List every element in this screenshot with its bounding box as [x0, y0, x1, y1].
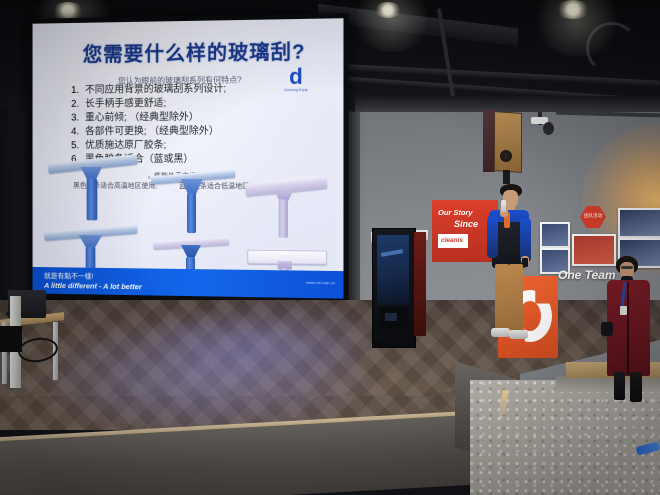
- bullet-text: 各部件可更换; （经典型除外）: [85, 125, 219, 139]
- bullet-text: 不同应用背景的玻璃刮系列设计;: [85, 83, 226, 98]
- slide-brand-logo: d Cleaning Equip: [284, 66, 308, 93]
- wall-mounted-speaker: [494, 111, 522, 173]
- floor-equipment-case: [0, 326, 22, 352]
- bullet-text: 优质施达原厂胶条;: [85, 139, 166, 153]
- team-activity-badge: 团队活动: [580, 206, 606, 228]
- speaker-driver: [500, 150, 512, 162]
- rack-device: [385, 313, 397, 321]
- presenter-shoe-right: [509, 330, 528, 339]
- wall-top-trim: [355, 96, 660, 112]
- bullet-number: 2.: [71, 98, 79, 112]
- product-squeegee-3: [245, 179, 327, 238]
- projector-light-wash-2: [150, 300, 390, 380]
- projection-screen: 您需要什么样的玻璃刮? 您认为眼前的玻璃刮系列有何特点? 1. 不同应用背景的玻…: [33, 18, 344, 298]
- photo-wall: 团队活动 One Team: [540, 196, 660, 288]
- rack-caster-right: [405, 341, 411, 347]
- footer-url: www.cd-corp.cn: [306, 280, 335, 286]
- slide-bullet-3: 3. 重心前倾; （经典型除外）: [71, 110, 321, 125]
- product-squeegee-2: [151, 173, 235, 233]
- list-item: [572, 234, 616, 266]
- auditorium-presentation-scene: 您需要什么样的玻璃刮? 您认为眼前的玻璃刮系列有何特点? 1. 不同应用背景的玻…: [0, 0, 660, 495]
- bullet-number: 1.: [71, 84, 79, 98]
- ceiling-spotlight-3: [374, 2, 402, 18]
- presenter-shoe-left: [491, 328, 510, 337]
- list-item: [618, 208, 660, 238]
- photo-group-red: [574, 236, 614, 264]
- brand-caption: Cleaning Equip: [284, 88, 308, 92]
- slide-bullet-2: 2. 长手柄手感更舒适;: [71, 96, 321, 112]
- list-item: [540, 222, 570, 248]
- one-team-title: One Team: [558, 268, 616, 282]
- bullet-text: 重心前倾; （经典型除外）: [85, 111, 199, 126]
- presenter-leg-right: [509, 264, 523, 330]
- photo-conference: [620, 210, 660, 236]
- product-squeegee-1: [48, 159, 138, 221]
- presenter-sleeve-left: [487, 216, 498, 258]
- speaker-bracket: [503, 170, 510, 184]
- badge-label: 团队活动: [580, 206, 606, 218]
- bullet-number: 3.: [71, 112, 79, 126]
- attendee-glasses-icon: [621, 266, 633, 269]
- coat-center-seam: [627, 282, 629, 374]
- slide-title: 您需要什么样的玻璃刮?: [83, 35, 306, 67]
- attendee-boot-right: [630, 372, 642, 402]
- bullet-number: 5.: [71, 139, 79, 153]
- microphone-icon: [501, 200, 506, 212]
- attendee-boot-left: [614, 372, 625, 400]
- footer-tagline-en: A little different - A lot better: [44, 281, 142, 291]
- slide-footer-bar: 就是有點不一樣! A little different - A lot bett…: [33, 267, 344, 299]
- rack-red-side-panel: [414, 232, 426, 336]
- slide-bullet-5: 5. 优质施达原厂胶条;: [71, 139, 321, 154]
- rack-caster-left: [377, 341, 383, 347]
- rack-glass-door: [377, 235, 409, 305]
- banner-line-2: Since: [454, 219, 478, 229]
- banner-logo-text: cleanis: [438, 234, 468, 244]
- av-equipment-rack: [372, 228, 416, 348]
- bullet-number: 4.: [71, 125, 79, 139]
- camera-dome: [543, 122, 554, 135]
- floor-step-riser: [556, 376, 660, 392]
- bullet-text: 长手柄手感更舒适;: [85, 97, 166, 111]
- ceiling-spotlight-4: [556, 0, 590, 19]
- banner-line-1: Our Story: [438, 208, 473, 217]
- banner-logo-box: cleanis: [438, 234, 468, 248]
- presenter-leg-left: [495, 264, 509, 330]
- slide-bullet-4: 4. 各部件可更换; （经典型除外）: [71, 124, 321, 139]
- attendee-handbag: [601, 322, 613, 336]
- attendee-badge: [620, 306, 627, 315]
- brand-mark-icon: d: [284, 66, 308, 89]
- photo-workshop: [542, 224, 568, 246]
